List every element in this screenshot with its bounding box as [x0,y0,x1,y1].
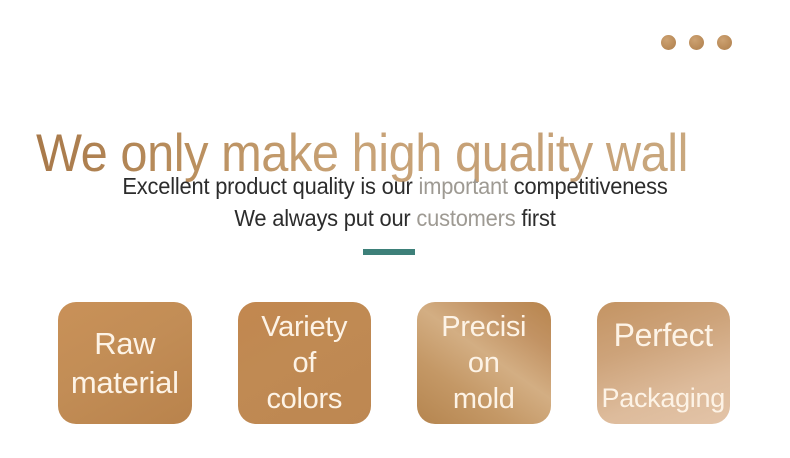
card-line: on [468,345,500,381]
card-line: Raw [94,324,155,363]
feature-card-raw-material: Raw material [58,302,192,424]
card-line: Precisi [441,309,526,345]
dot-icon [717,35,732,50]
card-line: Variety [261,309,347,345]
feature-card-list: Raw material Variety of colors Precisi o… [58,302,730,424]
card-line: Packaging [602,382,725,414]
subtitle: Excellent product quality is our importa… [0,170,790,234]
promo-banner: We only make high quality wall panel Exc… [0,0,790,458]
card-line: mold [453,381,515,417]
subtitle-line-2-part-c: first [521,205,555,231]
card-line: material [71,363,179,402]
feature-card-perfect-packaging: Perfect Packaging [597,302,731,424]
feature-card-precision-mold: Precisi on mold [417,302,551,424]
dot-icon [661,35,676,50]
subtitle-line-2-part-a: We always put our [234,205,416,231]
subtitle-line-1-highlight: important [419,173,514,199]
feature-card-variety-of-colors: Variety of colors [238,302,372,424]
subtitle-line-1-part-c: competitiveness [514,173,668,199]
subtitle-line-1-part-a: Excellent product quality is our [122,173,418,199]
decorative-dots [661,35,732,50]
subtitle-line-2-highlight: customers [416,205,521,231]
subtitle-line-1: Excellent product quality is our importa… [20,170,771,202]
card-line: of [292,345,316,381]
card-line: Perfect [614,316,713,354]
subtitle-line-2: We always put our customers first [20,202,771,234]
dot-icon [689,35,704,50]
accent-divider [363,249,415,255]
card-line: colors [266,381,342,417]
